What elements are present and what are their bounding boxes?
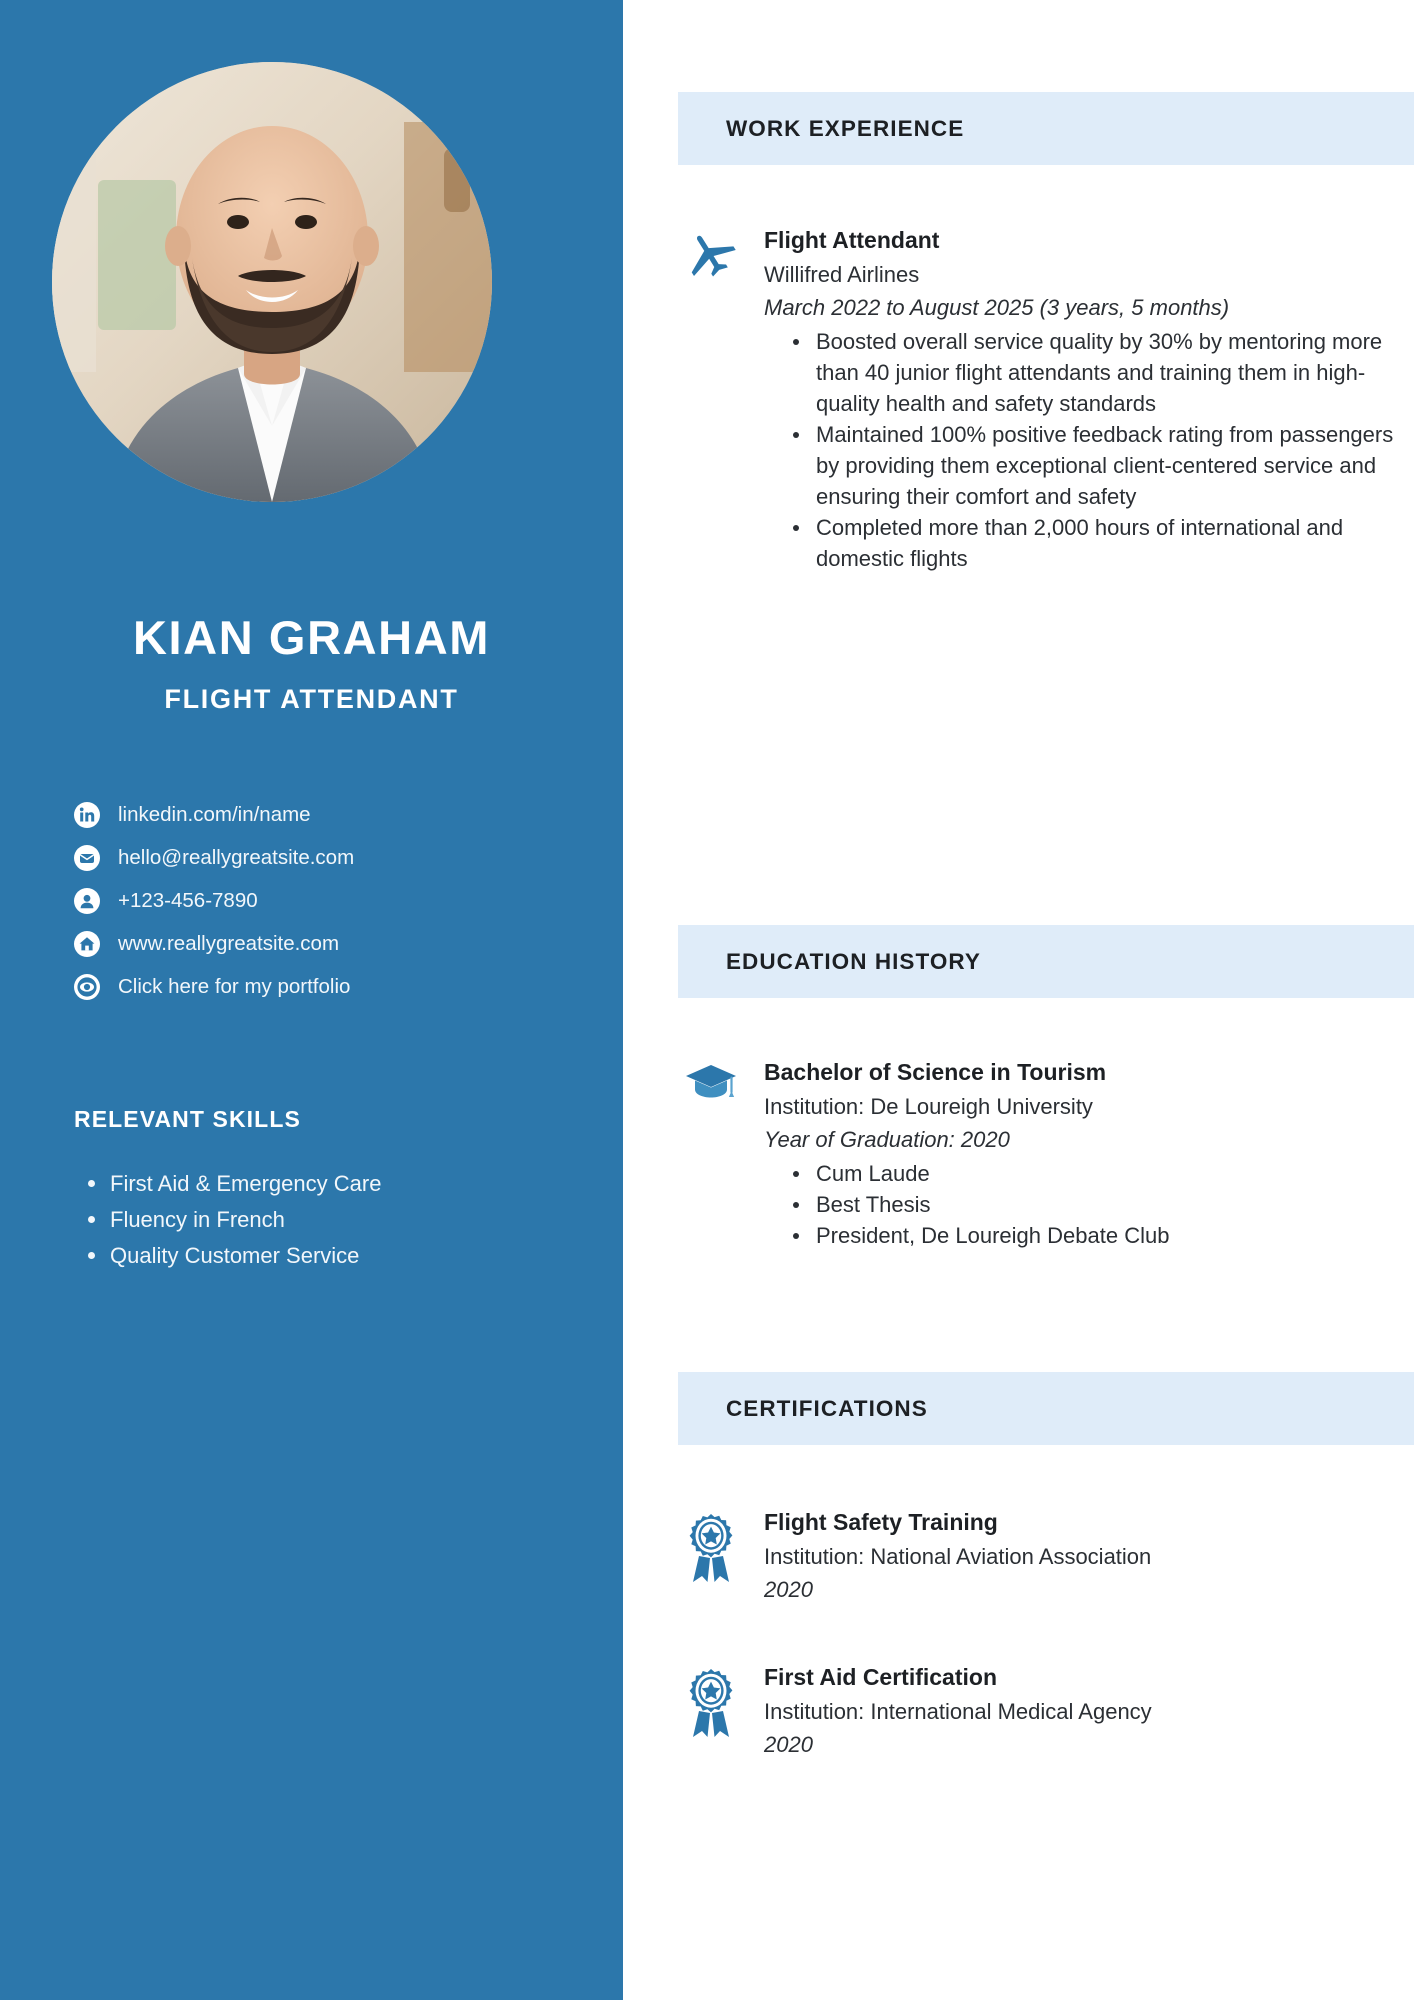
section-header-certifications: CERTIFICATIONS	[678, 1372, 1414, 1445]
portfolio-eye-icon	[74, 974, 100, 1000]
contact-item-linkedin[interactable]: linkedin.com/in/name	[74, 798, 574, 832]
person-icon	[74, 888, 100, 914]
work-entry: Flight Attendant Willifred Airlines Marc…	[678, 226, 1414, 574]
job-title: FLIGHT ATTENDANT	[0, 684, 623, 715]
contact-item-email[interactable]: hello@reallygreatsite.com	[74, 841, 574, 875]
work-bullets: Boosted overall service quality by 30% b…	[764, 326, 1414, 574]
degree-title: Bachelor of Science in Tourism	[764, 1058, 1414, 1088]
award-ribbon-icon	[678, 1663, 744, 1760]
institution: Institution: De Loureigh University	[764, 1091, 1414, 1122]
job-role: Flight Attendant	[764, 226, 1414, 256]
graduation-cap-icon	[678, 1058, 744, 1251]
institution: Institution: International Medical Agenc…	[764, 1696, 1414, 1727]
employer: Willifred Airlines	[764, 259, 1414, 290]
list-item: Fluency in French	[110, 1204, 630, 1235]
award-ribbon-icon	[678, 1508, 744, 1605]
institution: Institution: National Aviation Associati…	[764, 1541, 1414, 1572]
contact-value: linkedin.com/in/name	[118, 803, 311, 828]
certification-year: 2020	[764, 1729, 1414, 1760]
linkedin-icon	[74, 802, 100, 828]
education-entry: Bachelor of Science in Tourism Instituti…	[678, 1058, 1414, 1251]
section-title: CERTIFICATIONS	[726, 1396, 928, 1422]
avatar	[52, 62, 492, 502]
list-item: Boosted overall service quality by 30% b…	[816, 326, 1414, 419]
list-item: Cum Laude	[816, 1158, 1414, 1189]
list-item: Maintained 100% positive feedback rating…	[816, 419, 1414, 512]
contact-value: www.reallygreatsite.com	[118, 932, 339, 957]
section-header-education-history: EDUCATION HISTORY	[678, 925, 1414, 998]
section-header-work-experience: WORK EXPERIENCE	[678, 92, 1414, 165]
home-icon	[74, 931, 100, 957]
graduation-year: Year of Graduation: 2020	[764, 1124, 1414, 1155]
identity-block: KIAN GRAHAM FLIGHT ATTENDANT	[0, 613, 623, 715]
skills-heading: RELEVANT SKILLS	[74, 1106, 301, 1133]
certification-entry: First Aid Certification Institution: Int…	[678, 1663, 1414, 1760]
portrait-photo	[52, 62, 492, 502]
list-item: President, De Loureigh Debate Club	[816, 1220, 1414, 1251]
contact-value: +123-456-7890	[118, 889, 258, 914]
certification-title: First Aid Certification	[764, 1663, 1414, 1693]
list-item: First Aid & Emergency Care	[110, 1168, 630, 1199]
education-bullets: Cum Laude Best Thesis President, De Lour…	[764, 1158, 1414, 1251]
contact-item-website[interactable]: www.reallygreatsite.com	[74, 927, 574, 961]
list-item: Completed more than 2,000 hours of inter…	[816, 512, 1414, 574]
employment-dates: March 2022 to August 2025 (3 years, 5 mo…	[764, 292, 1414, 323]
main-content: WORK EXPERIENCE Flight Attendant Willifr…	[623, 0, 1414, 2000]
sidebar: KIAN GRAHAM FLIGHT ATTENDANT linkedin.co…	[0, 0, 623, 2000]
certification-year: 2020	[764, 1574, 1414, 1605]
contact-value: Click here for my portfolio	[118, 975, 350, 1000]
contact-item-phone[interactable]: +123-456-7890	[74, 884, 574, 918]
certification-title: Flight Safety Training	[764, 1508, 1414, 1538]
page-title: KIAN GRAHAM	[0, 613, 623, 662]
email-icon	[74, 845, 100, 871]
list-item: Best Thesis	[816, 1189, 1414, 1220]
certification-entry: Flight Safety Training Institution: Nati…	[678, 1508, 1414, 1605]
list-item: Quality Customer Service	[110, 1240, 630, 1271]
contact-item-portfolio[interactable]: Click here for my portfolio	[74, 970, 574, 1004]
contact-value: hello@reallygreatsite.com	[118, 846, 354, 871]
section-title: WORK EXPERIENCE	[726, 116, 964, 142]
section-title: EDUCATION HISTORY	[726, 949, 981, 975]
skills-list: First Aid & Emergency Care Fluency in Fr…	[74, 1168, 630, 1277]
contact-list: linkedin.com/in/name hello@reallygreatsi…	[74, 798, 574, 1013]
airplane-icon	[678, 226, 744, 574]
